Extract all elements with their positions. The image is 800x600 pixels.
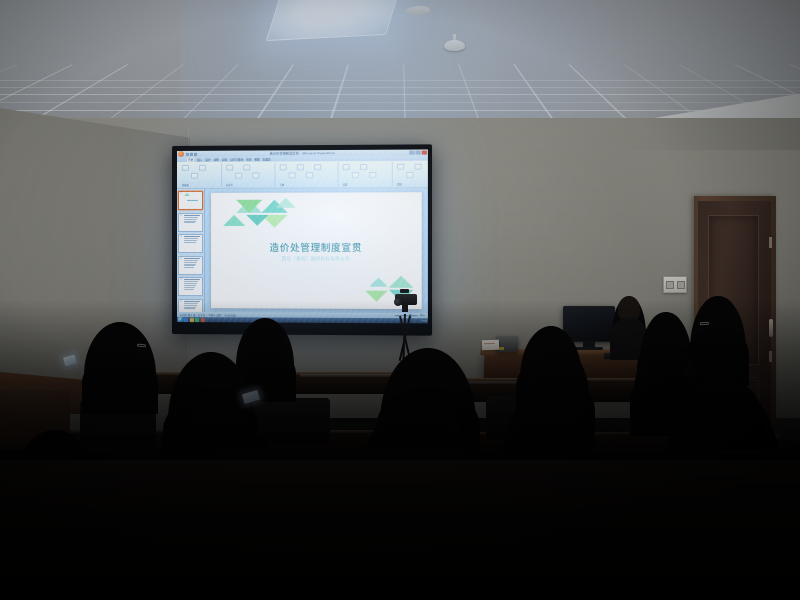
ribbon-button-形状[interactable]: [397, 164, 404, 170]
conference-room-photo: 造价处管理制度宣贯 - Microsoft PowerPoint 开始插入设计切…: [0, 0, 800, 600]
ribbon-button-行距[interactable]: [369, 172, 376, 178]
redo-icon: [194, 152, 197, 155]
ribbon-tab-7[interactable]: 视图: [254, 157, 259, 161]
smoke-detector-icon: [444, 34, 465, 51]
switch-key[interactable]: [666, 281, 674, 289]
save-icon: [186, 152, 189, 155]
maximize-icon: [416, 151, 421, 155]
air-vent-icon: [405, 6, 432, 15]
slide-thumbnail-preview: [183, 278, 202, 295]
ribbon-button-项目符号[interactable]: [343, 164, 350, 170]
thumbnail-text-line: [184, 258, 200, 259]
undo-icon: [190, 152, 193, 155]
ribbon-button-编号[interactable]: [351, 172, 358, 178]
ribbon-group-label: 绘图: [397, 182, 402, 186]
ribbon-button-粘贴[interactable]: [182, 165, 189, 171]
ribbon-button-对齐[interactable]: [360, 164, 367, 170]
slide-title-text: 造价处管理制度宣贯: [211, 239, 422, 253]
ribbon-tab-2[interactable]: 设计: [205, 157, 210, 161]
ribbon-button-新建幻灯片[interactable]: [226, 165, 233, 171]
ribbon-group-4[interactable]: 绘图: [394, 162, 428, 187]
thumbnail-text-line: [184, 260, 198, 261]
thumbnail-text-line: [184, 214, 200, 215]
slide-title-block[interactable]: 造价处管理制度宣贯 西北（集团）国际招标有限公司: [211, 239, 422, 261]
ribbon-tab-8[interactable]: 加载项: [263, 157, 271, 161]
ribbon-group-label: 幻灯片: [226, 183, 233, 187]
ribbon-button-加粗[interactable]: [297, 164, 304, 170]
thumbnail-text-line: [184, 283, 197, 284]
ribbon-group-0[interactable]: 剪贴板: [179, 163, 222, 187]
thumbnail-text-line: [184, 236, 200, 237]
ribbon-button-下划线[interactable]: [314, 164, 321, 170]
ribbon-group-3[interactable]: 段落: [340, 162, 393, 187]
ribbon-tab-4[interactable]: 动画: [222, 157, 227, 161]
decor-triangle: [246, 215, 268, 226]
document-title: 造价处管理制度宣贯 - Microsoft PowerPoint: [270, 151, 335, 155]
decor-triangle: [369, 278, 387, 287]
thumbnail-text-line: [184, 222, 195, 223]
slide-thumbnail-preview: [183, 213, 202, 230]
thumbnail-decor-triangle: [184, 193, 190, 196]
thumbnail-text-line: [184, 262, 197, 263]
ribbon-button-倾斜[interactable]: [305, 172, 312, 178]
ribbon-tab-6[interactable]: 审阅: [246, 157, 251, 161]
slide-thumbnail-preview: [183, 235, 202, 252]
close-icon: [422, 150, 427, 154]
slide-thumbnail-preview: [183, 192, 202, 209]
thumbnail-text-line: [184, 264, 196, 265]
slide-thumbnail[interactable]: 3: [178, 234, 203, 253]
thumbnail-text-line: [184, 289, 194, 290]
ceiling-grid-line: [0, 102, 800, 103]
lower-wall-shadow: [0, 300, 800, 460]
thumbnail-text-line: [184, 242, 196, 243]
switch-key[interactable]: [677, 281, 685, 289]
thumbnail-text-line: [184, 281, 198, 282]
thumbnail-text-line: [184, 217, 198, 218]
thumbnail-text-line: [184, 221, 196, 222]
thumbnail-text-line: [184, 238, 198, 239]
ribbon-group-label: 字体: [280, 183, 285, 187]
slide-subtitle-text: 西北（集团）国际招标有限公司: [211, 256, 422, 262]
ribbon-button-重设[interactable]: [243, 165, 250, 171]
camcorder-handle: [400, 289, 409, 293]
ceiling-light-panel-1: [266, 0, 402, 41]
quick-access-toolbar[interactable]: [186, 152, 197, 155]
minimize-icon: [409, 151, 414, 155]
light-switch[interactable]: [663, 276, 687, 293]
thumbnail-text-line: [184, 287, 195, 288]
ribbon-button-字体[interactable]: [280, 164, 287, 170]
ribbon-tab-5[interactable]: 幻灯片放映: [230, 157, 243, 161]
thumbnail-text-line: [184, 265, 195, 266]
ribbon-tab-0[interactable]: 开始: [187, 157, 194, 161]
thumbnail-text-line: [184, 267, 194, 268]
thumbnail-text-line: [184, 240, 197, 241]
ribbon-group-label: 段落: [343, 182, 348, 186]
thumbnail-text-line: [184, 219, 197, 220]
ribbon-button-快速样式[interactable]: [414, 164, 421, 170]
ribbon-button-版式[interactable]: [235, 173, 242, 179]
window-controls[interactable]: [409, 150, 427, 154]
slide-thumbnail-preview: [183, 257, 202, 274]
ribbon-tab-1[interactable]: 插入: [197, 157, 202, 161]
thumbnail-text-line: [184, 285, 196, 286]
ribbon[interactable]: 剪贴板幻灯片字体段落绘图编辑: [177, 161, 428, 189]
ribbon-button-复制[interactable]: [199, 165, 206, 171]
decor-triangle: [223, 215, 245, 226]
slide-thumbnail[interactable]: 2: [178, 212, 203, 231]
ribbon-group-1[interactable]: 幻灯片: [223, 162, 275, 186]
ribbon-button-字号[interactable]: [288, 172, 295, 178]
decor-triangle: [388, 276, 413, 288]
ribbon-button-剪切[interactable]: [190, 173, 197, 179]
decor-triangle: [236, 200, 262, 213]
ribbon-group-2[interactable]: 字体: [277, 162, 339, 186]
slide-thumbnail[interactable]: 1: [178, 191, 203, 210]
thumbnail-text-line: [184, 279, 200, 280]
ribbon-tab-3[interactable]: 切换: [214, 157, 219, 161]
slide-thumbnail[interactable]: 4: [178, 256, 203, 275]
ribbon-button-节[interactable]: [252, 173, 259, 179]
ceiling-grid-line: [0, 94, 800, 95]
slide-thumbnail-pane[interactable]: 123456: [177, 189, 205, 312]
ribbon-group-label: 剪贴板: [182, 183, 189, 187]
floor: [0, 450, 800, 600]
slide-thumbnail[interactable]: 5: [178, 277, 203, 296]
ribbon-button-排列[interactable]: [406, 172, 413, 178]
decor-triangle: [276, 197, 296, 207]
